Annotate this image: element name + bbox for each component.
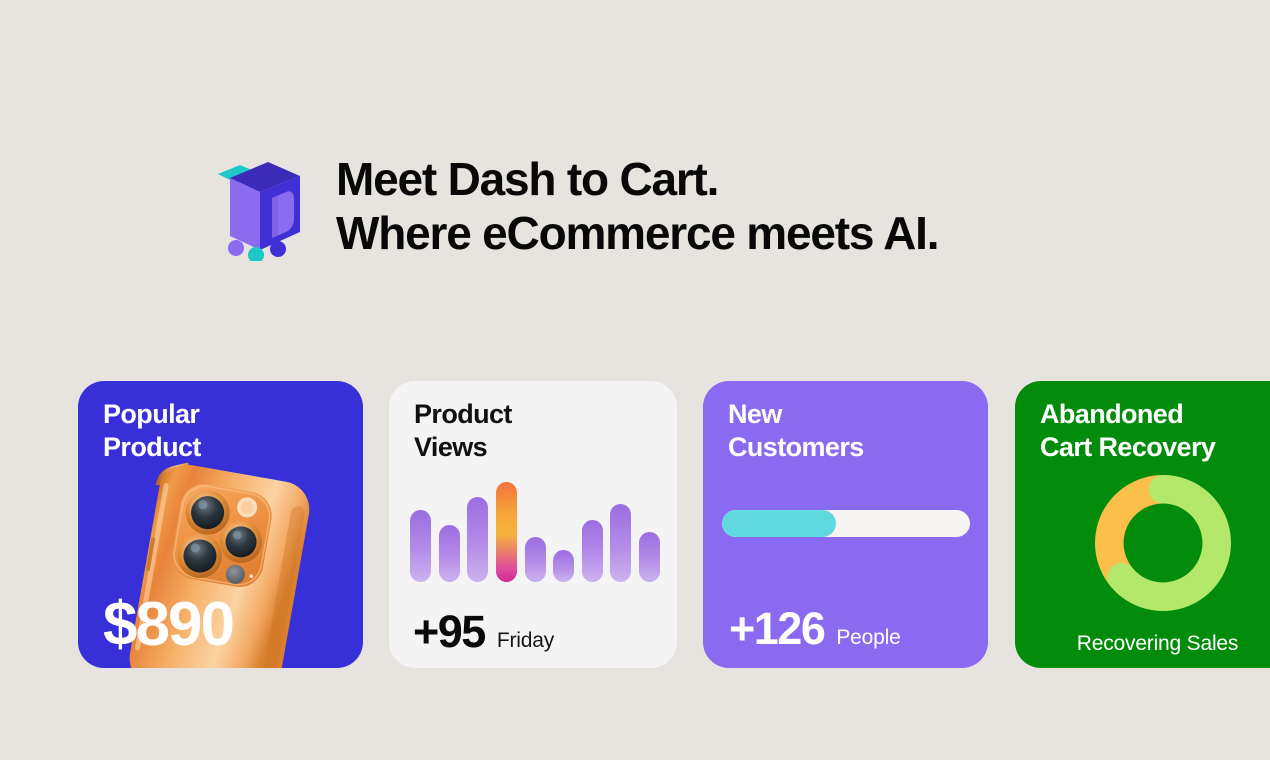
- recovery-donut-chart: [1083, 463, 1243, 623]
- dash-to-cart-logo-icon: [216, 156, 302, 261]
- donut-cap: [1149, 475, 1178, 504]
- views-bar-3: [467, 497, 488, 582]
- card-product-views-title: Product Views: [414, 398, 512, 464]
- card-popular-product[interactable]: Popular Product: [78, 381, 363, 668]
- card-new-customers-title: New Customers: [728, 398, 864, 464]
- card-product-views-title-line-1: Product: [414, 398, 512, 431]
- card-popular-product-title-line-1: Popular: [103, 398, 201, 431]
- product-views-footer: +95 Friday: [413, 609, 554, 654]
- popular-product-price: $890: [103, 594, 233, 656]
- card-new-customers-title-line-2: Customers: [728, 431, 864, 464]
- metric-cards-row: Popular Product: [0, 381, 1270, 668]
- product-views-day-label: Friday: [497, 629, 554, 653]
- views-bar-1: [410, 510, 431, 582]
- views-bar-4: [496, 482, 517, 582]
- card-abandoned-cart-recovery[interactable]: Abandoned Cart Recovery Recovering Sales: [1015, 381, 1270, 668]
- recovery-caption: Recovering Sales: [1015, 632, 1270, 656]
- views-bar-9: [639, 532, 660, 582]
- page-title-line-1: Meet Dash to Cart.: [336, 156, 938, 202]
- new-customers-progress-track[interactable]: [722, 510, 970, 537]
- card-abandoned-cart-title-line-1: Abandoned: [1040, 398, 1215, 431]
- product-views-bar-chart: [410, 476, 660, 582]
- views-bar-2: [439, 525, 460, 582]
- donut-cap: [1107, 563, 1136, 592]
- page-title-line-2: Where eCommerce meets AI.: [336, 210, 938, 256]
- new-customers-unit-label: People: [836, 626, 900, 650]
- card-abandoned-cart-title: Abandoned Cart Recovery: [1040, 398, 1215, 464]
- card-product-views[interactable]: Product Views +95 Friday: [389, 381, 677, 668]
- card-new-customers-title-line-1: New: [728, 398, 864, 431]
- views-bar-5: [525, 537, 546, 582]
- views-bar-6: [553, 550, 574, 582]
- product-views-value: +95: [413, 609, 485, 654]
- card-new-customers[interactable]: New Customers +126 People: [703, 381, 988, 668]
- views-bar-7: [582, 520, 603, 582]
- card-abandoned-cart-title-line-2: Cart Recovery: [1040, 431, 1215, 464]
- hero-header: Meet Dash to Cart. Where eCommerce meets…: [216, 150, 938, 261]
- new-customers-footer: +126 People: [729, 606, 901, 651]
- new-customers-value: +126: [729, 606, 824, 651]
- new-customers-progress-fill: [722, 510, 836, 537]
- page-title: Meet Dash to Cart. Where eCommerce meets…: [336, 150, 938, 256]
- card-product-views-title-line-2: Views: [414, 431, 512, 464]
- views-bar-8: [610, 504, 631, 582]
